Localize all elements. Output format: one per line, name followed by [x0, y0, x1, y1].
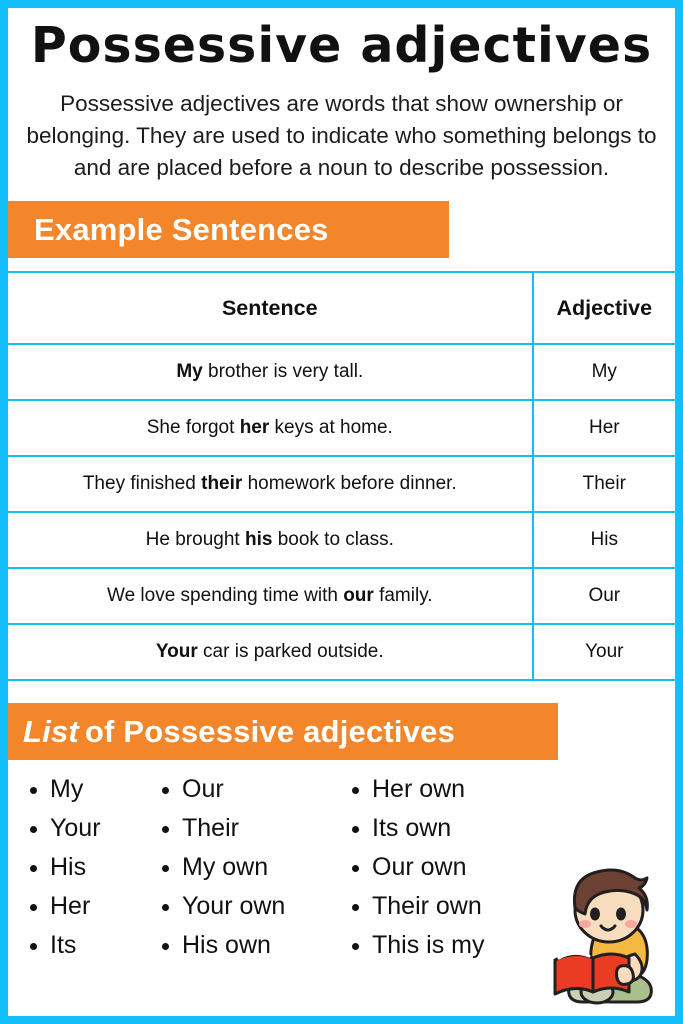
sentence-suffix: family. — [374, 585, 433, 606]
list-banner-label: of Possessive adjectives — [85, 714, 455, 750]
column-header-sentence: Sentence — [8, 272, 533, 344]
table-header-row: Sentence Adjective — [8, 272, 675, 344]
sentence-suffix: car is parked outside. — [198, 641, 384, 662]
sentence-suffix: homework before dinner. — [242, 473, 456, 494]
list-item: Her — [24, 887, 156, 926]
sentence-highlight: our — [343, 585, 374, 606]
intro-paragraph: Possessive adjectives are words that sho… — [26, 88, 657, 184]
example-sentences-banner: Example Sentences — [8, 201, 449, 258]
sentence-prefix: He brought — [146, 529, 245, 550]
cell-adjective: My — [533, 344, 675, 400]
list-item: Its own — [346, 809, 546, 848]
table-row: He brought his book to class. His — [8, 512, 675, 568]
list-item: Her own — [346, 770, 546, 809]
sentence-prefix: We love spending time with — [107, 585, 343, 606]
boy-reading-book-illustration — [547, 862, 679, 1014]
adjective-list-column-2: Our Their My own Your own His own — [156, 770, 346, 1016]
list-item: My own — [156, 848, 346, 887]
cell-adjective: Their — [533, 456, 675, 512]
sentence-highlight: her — [240, 417, 270, 438]
sentence-highlight: My — [176, 361, 202, 382]
sentence-prefix: She forgot — [147, 417, 240, 438]
sentence-highlight: his — [245, 529, 272, 550]
sentence-suffix: book to class. — [272, 529, 393, 550]
list-item: Your — [24, 809, 156, 848]
list-item: Our own — [346, 848, 546, 887]
cell-sentence: Your car is parked outside. — [8, 624, 533, 680]
adjective-list-column-1: My Your His Her Its — [24, 770, 156, 1016]
poster-container: Possessive adjectives Possessive adjecti… — [0, 0, 683, 1024]
list-banner-italic-label: List — [23, 714, 85, 750]
list-item: Their — [156, 809, 346, 848]
table-row: She forgot her keys at home. Her — [8, 400, 675, 456]
sentences-table-head: Sentence Adjective — [8, 272, 675, 344]
example-sentences-banner-label: Example Sentences — [34, 212, 329, 248]
cell-sentence: They finished their homework before dinn… — [8, 456, 533, 512]
cell-adjective: Her — [533, 400, 675, 456]
list-item: His own — [156, 926, 346, 965]
list-item: Your own — [156, 887, 346, 926]
cell-sentence: We love spending time with our family. — [8, 568, 533, 624]
sentence-suffix: keys at home. — [269, 417, 393, 438]
cell-adjective: His — [533, 512, 675, 568]
column-header-adjective: Adjective — [533, 272, 675, 344]
list-item: Its — [24, 926, 156, 965]
list-item: My — [24, 770, 156, 809]
table-row: They finished their homework before dinn… — [8, 456, 675, 512]
cell-sentence: My brother is very tall. — [8, 344, 533, 400]
table-row: My brother is very tall. My — [8, 344, 675, 400]
table-row: We love spending time with our family. O… — [8, 568, 675, 624]
list-item: Their own — [346, 887, 546, 926]
sentence-highlight: their — [201, 473, 242, 494]
list-item: This is my — [346, 926, 546, 965]
cell-adjective: Our — [533, 568, 675, 624]
sentence-prefix: They finished — [83, 473, 201, 494]
adjective-list-column-3: Her own Its own Our own Their own This i… — [346, 770, 546, 1016]
cell-sentence: He brought his book to class. — [8, 512, 533, 568]
cell-sentence: She forgot her keys at home. — [8, 400, 533, 456]
sentence-suffix: brother is very tall. — [203, 361, 364, 382]
list-item: His — [24, 848, 156, 887]
sentence-highlight: Your — [156, 641, 198, 662]
adjective-lists: My Your His Her Its Our Their My own You… — [8, 770, 675, 1016]
table-row: Your car is parked outside. Your — [8, 624, 675, 680]
sentences-table-body: My brother is very tall. My She forgot h… — [8, 344, 675, 680]
page-title: Possessive adjectives — [8, 20, 675, 71]
list-banner: List of Possessive adjectives — [8, 703, 558, 760]
list-item: Our — [156, 770, 346, 809]
sentences-table-wrapper: Sentence Adjective My brother is very ta… — [8, 271, 675, 681]
sentences-table: Sentence Adjective My brother is very ta… — [8, 271, 675, 681]
cell-adjective: Your — [533, 624, 675, 680]
